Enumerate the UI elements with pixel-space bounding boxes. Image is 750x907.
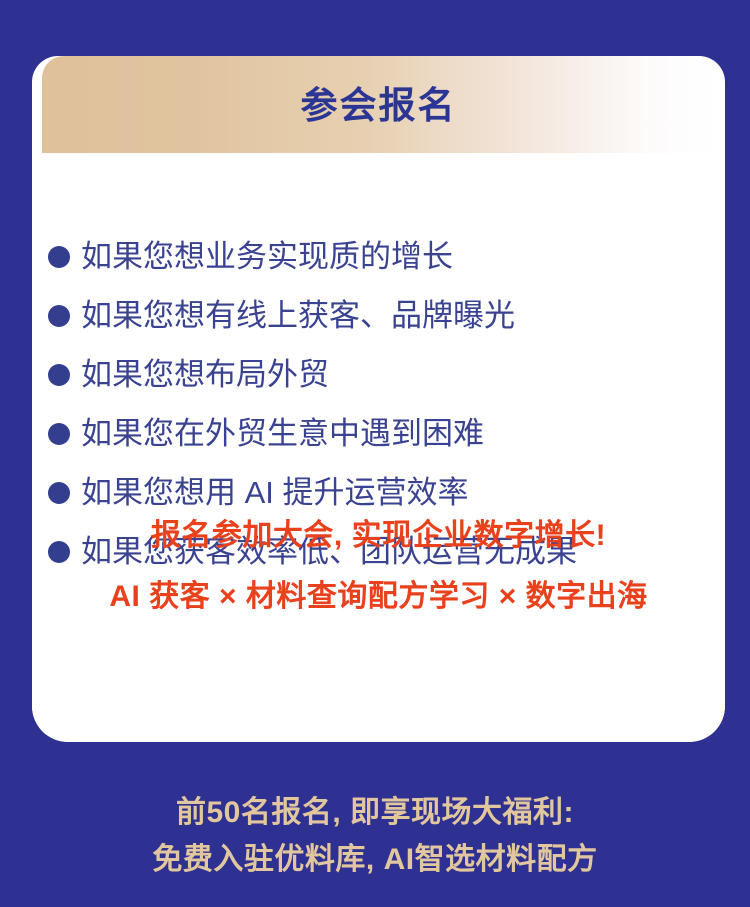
list-item: 如果您在外贸生意中遇到困难 <box>48 404 708 463</box>
list-item-label: 如果您在外贸生意中遇到困难 <box>81 418 484 449</box>
list-item-label: 如果您想布局外贸 <box>81 359 329 390</box>
list-item-label: 如果您想有线上获客、品牌曝光 <box>81 300 515 331</box>
bullet-dot-icon <box>48 364 70 386</box>
list-item: 如果您想业务实现质的增长 <box>48 227 708 286</box>
footer-promo-block: 前50名报名, 即享现场大福利: 免费入驻优料库, AI智选材料配方 <box>0 798 750 875</box>
bullet-dot-icon <box>48 305 70 327</box>
bullet-dot-icon <box>48 482 70 504</box>
card-body: 如果您想业务实现质的增长 如果您想有线上获客、品牌曝光 如果您想布局外贸 如果您… <box>32 153 725 742</box>
card-header-banner: 参会报名 <box>42 56 715 153</box>
cta-line-secondary: AI 获客 × 材料查询配方学习 × 数字出海 <box>32 582 725 612</box>
cta-line-primary: 报名参加大会, 实现企业数字增长! <box>32 521 725 551</box>
list-item: 如果您想用 AI 提升运营效率 <box>48 463 708 522</box>
list-item: 如果您想有线上获客、品牌曝光 <box>48 286 708 345</box>
list-item-label: 如果您想用 AI 提升运营效率 <box>81 477 469 508</box>
bullet-dot-icon <box>48 423 70 445</box>
card-header-title: 参会报名 <box>301 87 457 124</box>
promo-poster: 参会报名 如果您想业务实现质的增长 如果您想有线上获客、品牌曝光 如果您想布局外… <box>0 0 750 907</box>
footer-line-primary: 前50名报名, 即享现场大福利: <box>0 798 750 828</box>
call-to-action-block: 报名参加大会, 实现企业数字增长! AI 获客 × 材料查询配方学习 × 数字出… <box>32 521 725 612</box>
registration-card: 参会报名 如果您想业务实现质的增长 如果您想有线上获客、品牌曝光 如果您想布局外… <box>32 56 725 742</box>
list-item-label: 如果您想业务实现质的增长 <box>81 241 453 272</box>
list-item: 如果您想布局外贸 <box>48 345 708 404</box>
bullet-dot-icon <box>48 246 70 268</box>
footer-line-secondary: 免费入驻优料库, AI智选材料配方 <box>0 845 750 875</box>
